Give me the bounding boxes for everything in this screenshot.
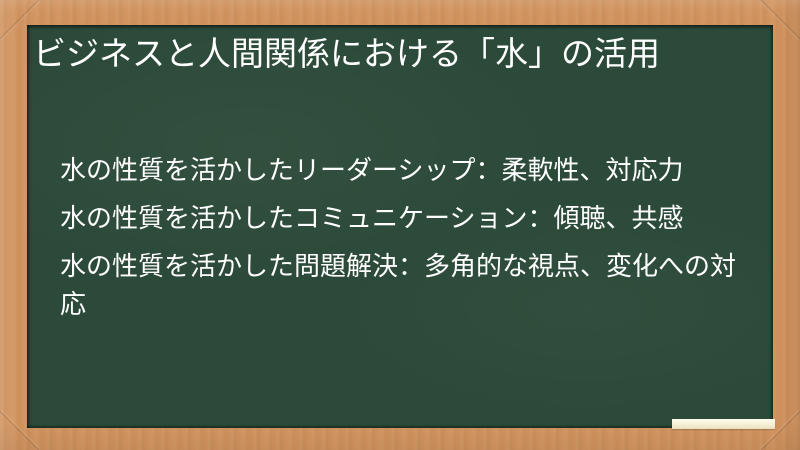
bullet-item-1: 水の性質を活かしたリーダーシップ：柔軟性、対応力 [60,152,750,190]
bullet-item-2: 水の性質を活かしたコミュニケーション：傾聴、共感 [60,200,750,238]
bullet-item-3: 水の性質を活かした問題解決：多角的な視点、変化への対応 [60,248,750,324]
chalkboard-surface: ビジネスと人間関係における「水」の活用 水の性質を活かしたリーダーシップ：柔軟性… [27,25,773,428]
chalk-stick-icon [672,419,775,429]
slide-title: ビジネスと人間関係における「水」の活用 [33,32,739,76]
chalkboard-slide: ビジネスと人間関係における「水」の活用 水の性質を活かしたリーダーシップ：柔軟性… [0,0,800,450]
bullet-list: 水の性質を活かしたリーダーシップ：柔軟性、対応力 水の性質を活かしたコミュニケー… [60,152,750,334]
